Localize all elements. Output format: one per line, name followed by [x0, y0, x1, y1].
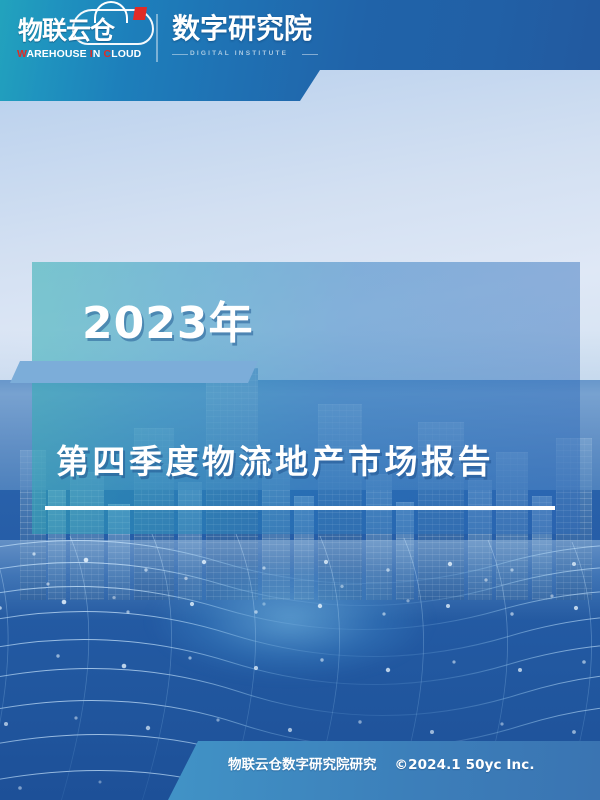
report-cover-page: 物联云仓 WAREHOUSE IN CLOUD 数字研究院 DIGITAL IN…	[0, 0, 600, 800]
accent-bar	[10, 361, 258, 383]
cover-subtitle: 第四季度物流地产市场报告	[56, 445, 494, 478]
footer-text: 物联云仓数字研究院研究©2024.1 50yc Inc.	[228, 759, 535, 773]
logo-primary-cn: 物联云仓	[18, 18, 114, 43]
logo-secondary-en: DIGITAL INSTITUTE	[190, 51, 288, 58]
logo-secondary-rule-right	[302, 54, 318, 55]
logo-warehouse-in-cloud[interactable]: 物联云仓 WAREHOUSE IN CLOUD	[16, 13, 152, 67]
footer-copyright: ©2024.1 50yc Inc.	[395, 757, 535, 773]
logo-divider	[156, 14, 158, 62]
logo-secondary-rule-left	[172, 54, 188, 55]
footer-org: 物联云仓数字研究院研究	[228, 757, 377, 773]
title-underline	[45, 506, 555, 510]
logo-en-loud: LOUD	[111, 48, 141, 60]
logo-en-arehouse: AREHOUSE	[26, 48, 89, 60]
logo-primary-en: WAREHOUSE IN CLOUD	[17, 49, 141, 60]
logo-secondary-cn: 数字研究院	[172, 15, 312, 43]
logo-en-n: N	[93, 48, 104, 60]
logo-digital-institute[interactable]: 数字研究院 DIGITAL INSTITUTE	[172, 13, 322, 67]
cover-year: 2023年	[82, 302, 253, 346]
